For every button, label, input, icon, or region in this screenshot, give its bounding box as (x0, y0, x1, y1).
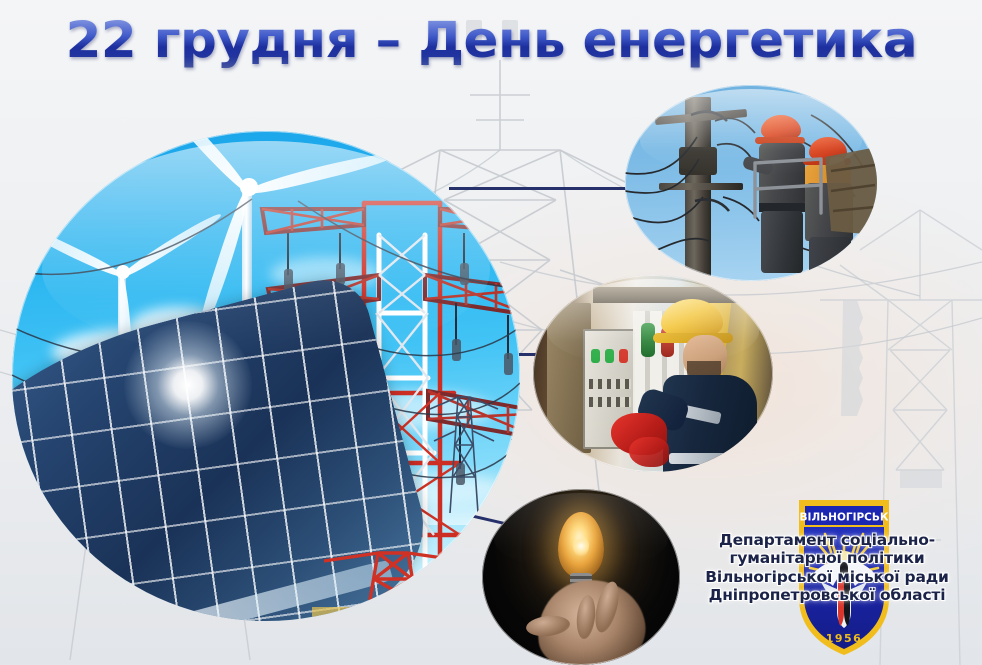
light-bulb-filament (573, 535, 589, 557)
bucket-railing (625, 85, 877, 281)
indicator-lamp-red (619, 349, 628, 363)
indicator-lamp-green (605, 349, 614, 363)
department-text-block: Департамент соціально- гуманітарної полі… (672, 531, 982, 605)
emblem-year: 1956 (826, 632, 863, 645)
electrician-figure (645, 295, 773, 472)
indicator-lamp-green (591, 349, 600, 363)
emblem-city-label: ВІЛЬНОГІРСЬК (800, 512, 889, 524)
small-red-pylon (312, 527, 482, 621)
poster-title-container: 22 грудня – День енергетика (0, 2, 982, 78)
panel-switch-row (589, 379, 631, 389)
department-line-2: гуманітарної політики (672, 549, 982, 567)
panel-switch-row (589, 397, 631, 407)
poster-canvas: ВІЛЬНОГІРСЬК 1956 Департамент соціально-… (0, 0, 982, 665)
bubble-light-bulb (482, 489, 680, 665)
uniform-stripe (669, 453, 729, 464)
bubble-renewable-energy (12, 131, 520, 621)
department-line-4: Дніпропетровської області (672, 586, 982, 604)
red-glove (629, 437, 669, 467)
department-line-1: Департамент соціально- (672, 531, 982, 549)
bubble-electrician (533, 275, 773, 472)
department-line-3: Вільногірської міської ради (672, 568, 982, 586)
page-title: 22 грудня – День енергетика (65, 11, 917, 69)
bubble-linemen (625, 85, 877, 281)
